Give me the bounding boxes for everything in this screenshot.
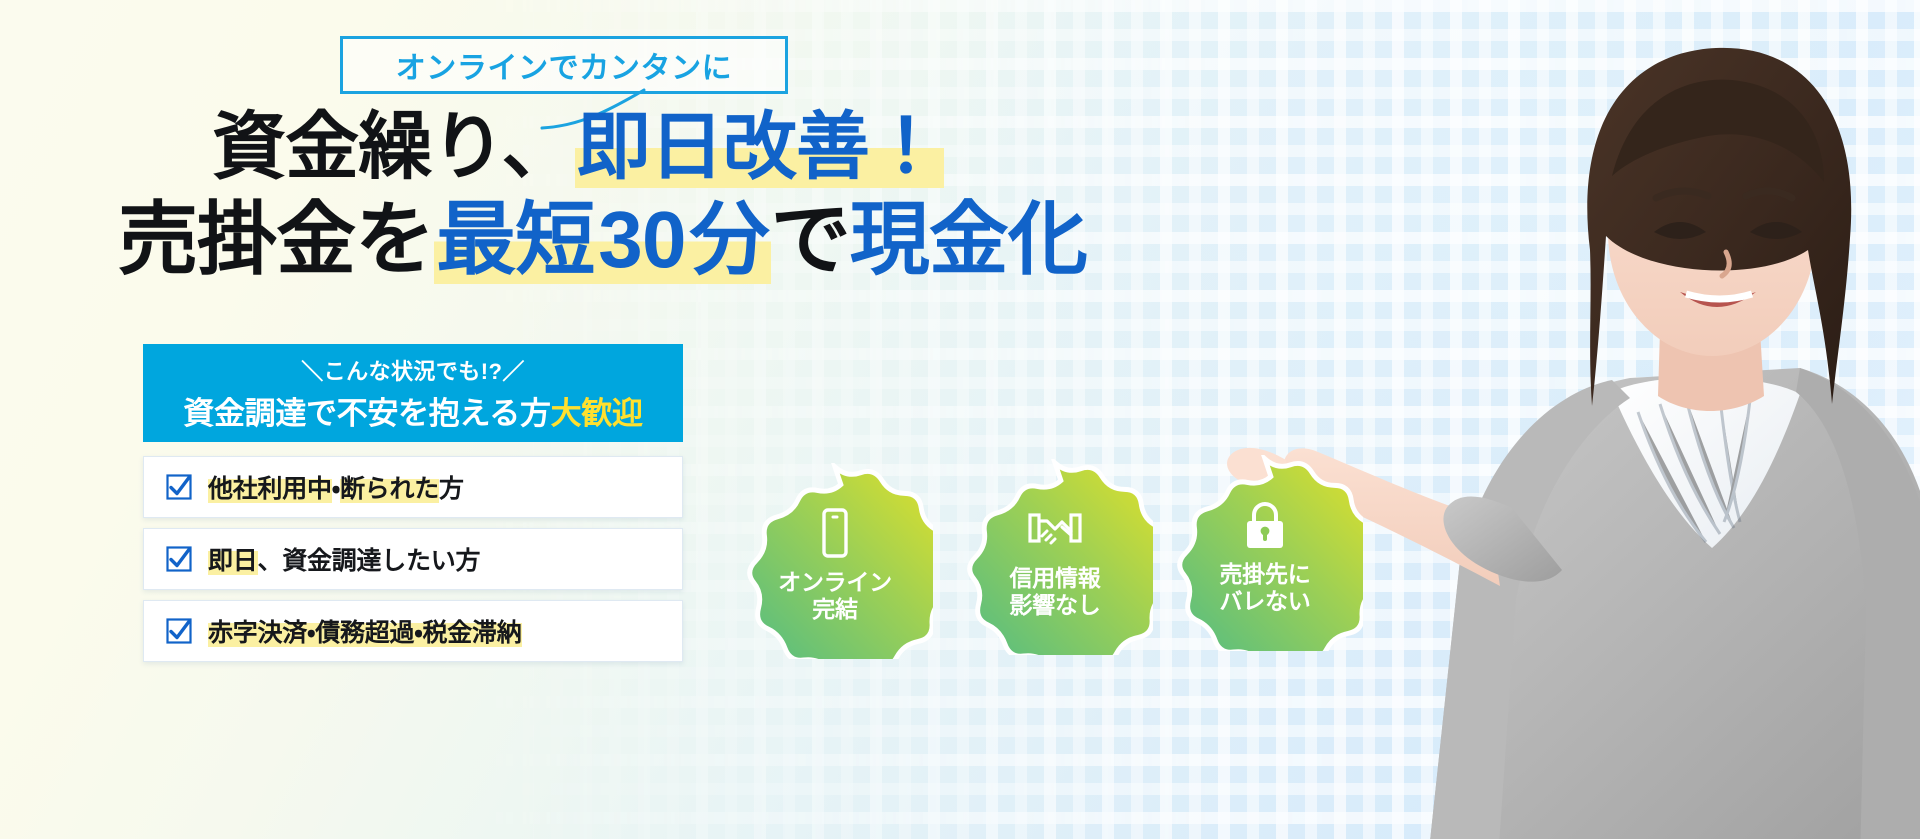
checklist: 他社利用中・断られた方 即日、資金調達したい方 赤字決済・債務超過・税金滞納 [143, 456, 683, 662]
checklist-1-suffix: 方 [439, 475, 464, 503]
callout-main-text: 資金調達で不安を抱える方大歓迎 [183, 388, 642, 433]
checklist-item-2[interactable]: 即日、資金調達したい方 [143, 528, 683, 590]
headline-l1-emphasis: 即日改善！ [575, 105, 945, 188]
feature-badge-online: オンライン 完結 [737, 463, 933, 659]
checklist-item-1[interactable]: 他社利用中・断られた方 [143, 456, 683, 518]
headline-l2-emphasis-1: 最短 [434, 195, 596, 284]
headline-l2-emphasis-2: 分 [688, 195, 771, 284]
hero-ribbon-badge: オンラインでカンタンに [340, 36, 788, 94]
checklist-1-hl-1: 他社利用中 [208, 475, 332, 503]
callout-main-prefix: 資金調達で不安を抱える方 [183, 396, 550, 431]
lock-icon [1237, 497, 1293, 553]
smartphone-icon [807, 505, 863, 561]
checkbox-checked-icon [166, 546, 192, 572]
checklist-3-hl-1: 赤字決済・債務超過・税金滞納 [208, 619, 522, 647]
checklist-1-mid: ・ [332, 475, 340, 503]
handshake-icon [1027, 501, 1083, 557]
checklist-2-hl-1: 即日 [208, 547, 258, 575]
checklist-item-2-label: 即日、資金調達したい方 [208, 541, 480, 577]
feature-badge-secret-label: 売掛先に バレない [1219, 561, 1310, 615]
callout-banner: ＼こんな状況でも!?／ 資金調達で不安を抱える方大歓迎 [143, 344, 683, 442]
checklist-1-hl-2: 断られた [340, 475, 439, 503]
headline-l2-emphasis-3: 現金化 [850, 195, 1087, 284]
headline-l1-plain: 資金繰り、 [212, 105, 575, 188]
checkbox-checked-icon [166, 474, 192, 500]
headline-l2-particle: で [771, 195, 850, 284]
feature-badges: オンライン 完結 信用情報 影響なし [735, 455, 1365, 670]
checklist-item-3-label: 赤字決済・債務超過・税金滞納 [208, 613, 522, 649]
headline-line-2: 売掛金を最短30分で現金化 [110, 198, 1090, 283]
callout-main-highlight: 大歓迎 [551, 396, 643, 431]
feature-badge-secret: 売掛先に バレない [1167, 455, 1363, 651]
feature-badge-credit: 信用情報 影響なし [957, 459, 1153, 655]
headline-line-1: 資金繰り、即日改善！ [110, 108, 1090, 186]
checkbox-checked-icon [166, 618, 192, 644]
presenter-photo [1160, 0, 1920, 839]
headline-l2-number: 30 [596, 195, 687, 284]
hero-section: オンラインでカンタンに 資金繰り、即日改善！ 売掛金を最短30分で現金化 ＼こん… [0, 0, 1920, 839]
checklist-item-1-label: 他社利用中・断られた方 [208, 469, 464, 505]
checklist-2-mid: 、資金調達したい方 [258, 547, 481, 575]
feature-badge-online-label: オンライン 完結 [778, 569, 892, 623]
hero-ribbon-label: オンラインでカンタンに [396, 43, 733, 87]
checklist-item-3[interactable]: 赤字決済・債務超過・税金滞納 [143, 600, 683, 662]
headline-l2-plain: 売掛金を [118, 195, 434, 284]
feature-badge-credit-label: 信用情報 影響なし [1009, 565, 1100, 619]
callout-top-text: ＼こんな状況でも!?／ [301, 354, 525, 386]
hero-headline: 資金繰り、即日改善！ 売掛金を最短30分で現金化 [110, 108, 1090, 283]
